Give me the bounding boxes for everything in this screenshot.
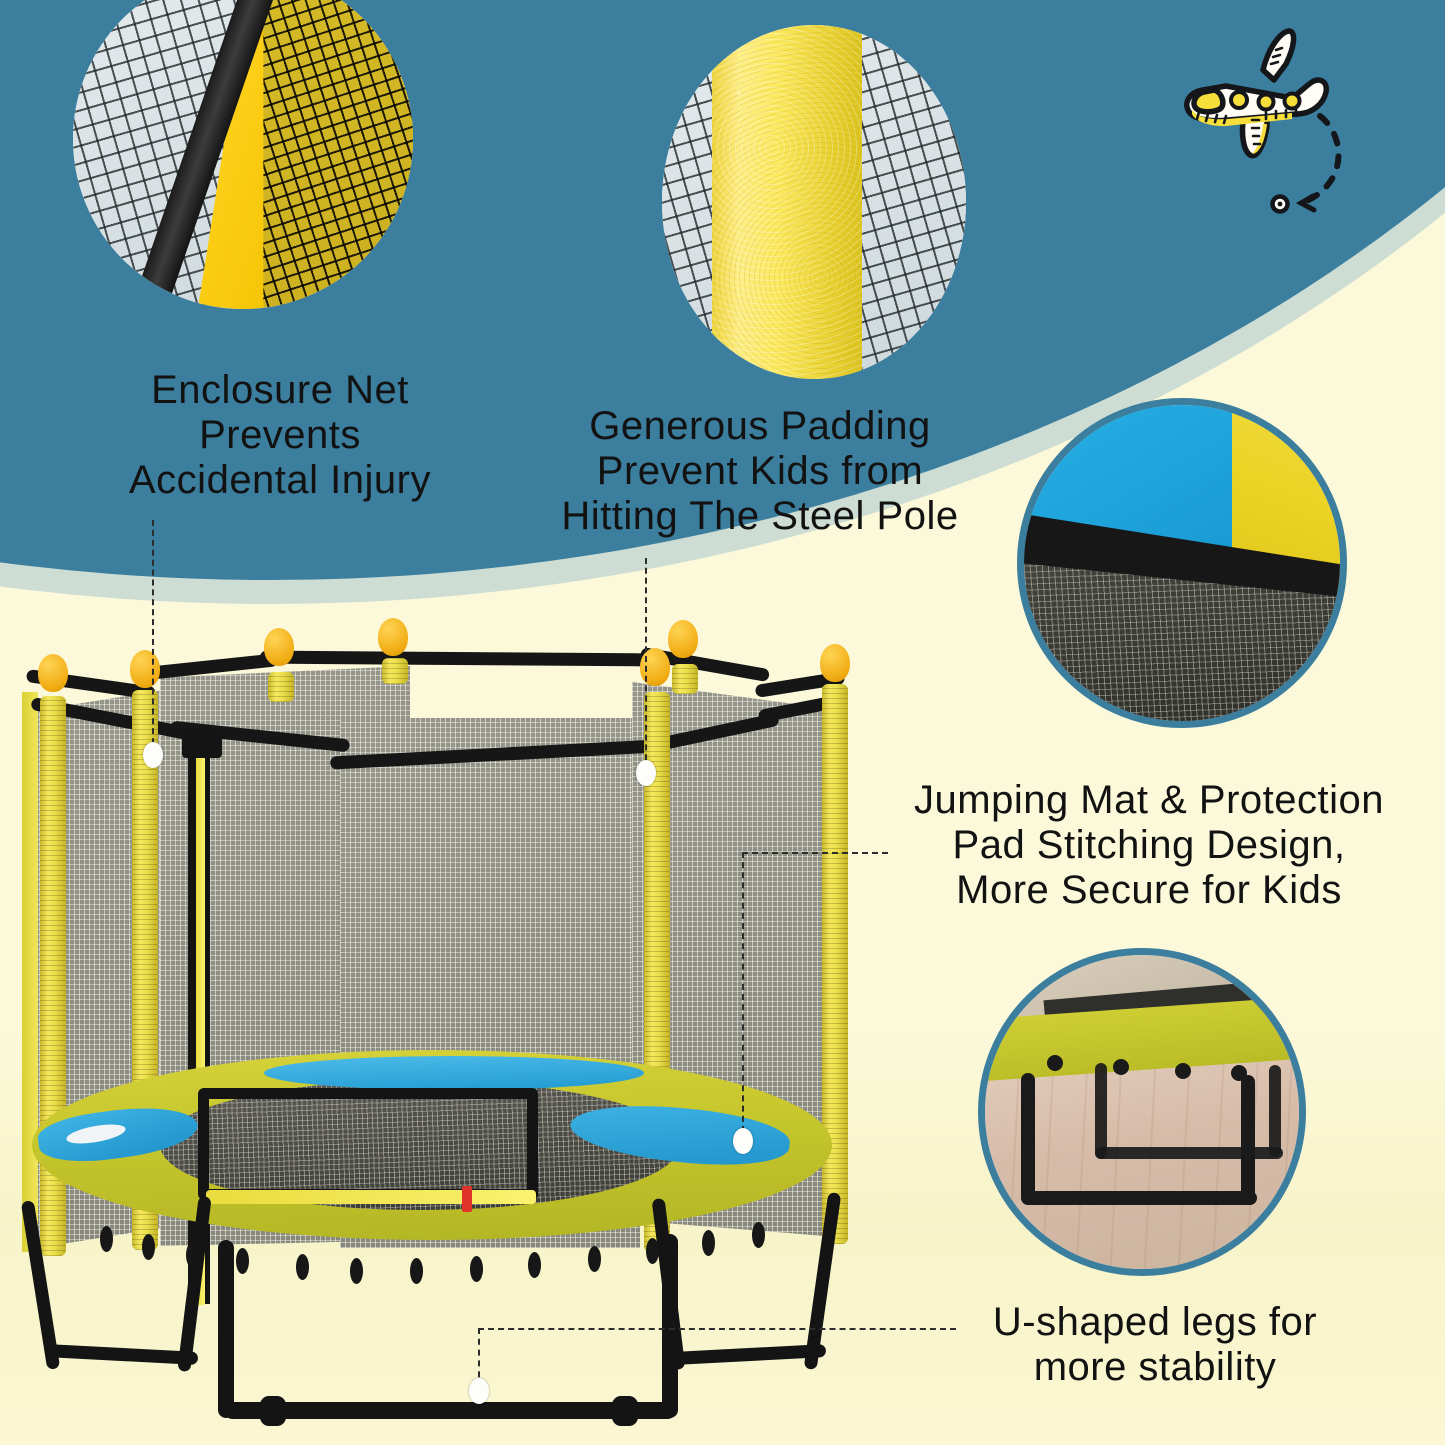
caption-line: Prevents	[60, 413, 500, 458]
leg-front-foot-left	[260, 1396, 286, 1426]
pole-knob-2	[130, 650, 160, 688]
net-mesh-dark	[263, 0, 413, 309]
spring-8	[470, 1256, 483, 1282]
caption-line: More Secure for Kids	[860, 868, 1438, 913]
closeup-pad-stitching	[1017, 398, 1347, 728]
caption-line: Accidental Injury	[60, 458, 500, 503]
enclosure-pole-6	[672, 664, 698, 694]
leg-front-foot-right	[612, 1396, 638, 1426]
spring-2	[142, 1234, 155, 1260]
spring-9	[528, 1252, 541, 1278]
caption-line: Jumping Mat & Protection	[860, 778, 1438, 823]
pole-knob-7	[820, 644, 850, 682]
door-zip-top-tab	[182, 730, 222, 758]
closeup-u-shaped-legs	[978, 948, 1306, 1276]
spring-5	[296, 1254, 309, 1280]
spring-13	[752, 1222, 765, 1248]
pole-knob-6	[668, 620, 698, 658]
closeup-foam-padding	[655, 18, 973, 386]
leg-front-crossbar	[224, 1402, 676, 1419]
caption-line: Enclosure Net	[60, 368, 500, 413]
spring-10	[588, 1246, 601, 1272]
door-zip-pull	[462, 1186, 472, 1212]
leg-rear-right-crossbar	[674, 1344, 826, 1365]
spring-12	[702, 1230, 715, 1256]
spring-4	[236, 1248, 249, 1274]
spring-6	[350, 1258, 363, 1284]
infographic-canvas: Enclosure Net Prevents Accidental Injury…	[0, 0, 1445, 1445]
spring-1	[100, 1226, 113, 1252]
caption-enclosure-net: Enclosure Net Prevents Accidental Injury	[60, 368, 500, 502]
enclosure-pole-3	[268, 672, 294, 702]
net-trim-left	[22, 692, 38, 1252]
caption-line: Prevent Kids from	[500, 449, 1020, 494]
pole-knob-1	[38, 654, 68, 692]
enclosure-pole-4	[382, 658, 408, 684]
leg-front-post-right	[662, 1234, 678, 1418]
leg-spring-1	[1047, 1055, 1063, 1071]
foam-pole-sleeve	[712, 25, 862, 379]
pole-knob-3	[264, 628, 294, 666]
caption-generous-padding: Generous Padding Prevent Kids from Hitti…	[500, 404, 1020, 538]
airplane-doodle-icon	[1168, 24, 1358, 234]
caption-pad-stitching: Jumping Mat & Protection Pad Stitching D…	[860, 778, 1438, 912]
caption-line: more stability	[930, 1345, 1380, 1390]
leg-rear-left-crossbar	[46, 1344, 198, 1365]
leg-spring-4	[1231, 1065, 1247, 1081]
leg-crossbar-front	[1021, 1191, 1257, 1205]
pole-knob-4	[378, 618, 408, 656]
leg-crossbar-rear	[1095, 1147, 1283, 1159]
leg-post-left	[1021, 1073, 1035, 1203]
caption-line: U-shaped legs for	[930, 1300, 1380, 1345]
caption-u-shaped-legs: U-shaped legs for more stability	[930, 1300, 1380, 1390]
leg-post-rear-right	[1269, 1065, 1281, 1157]
caption-line: Hitting The Steel Pole	[500, 494, 1020, 539]
caption-line: Generous Padding	[500, 404, 1020, 449]
leg-spring-3	[1175, 1063, 1191, 1079]
leg-spring-2	[1113, 1059, 1129, 1075]
caption-line: Pad Stitching Design,	[860, 823, 1438, 868]
leg-post-rear-left	[1095, 1063, 1107, 1159]
closeup-enclosure-net	[66, 0, 420, 316]
door-flap-frame	[198, 1088, 538, 1200]
door-flap-zip-bottom	[206, 1190, 536, 1204]
leg-post-right	[1241, 1075, 1255, 1203]
top-strap-center	[260, 651, 650, 667]
pad-blue-rim	[264, 1056, 644, 1090]
spring-7	[410, 1258, 423, 1284]
leg-front-post-left	[218, 1240, 234, 1418]
